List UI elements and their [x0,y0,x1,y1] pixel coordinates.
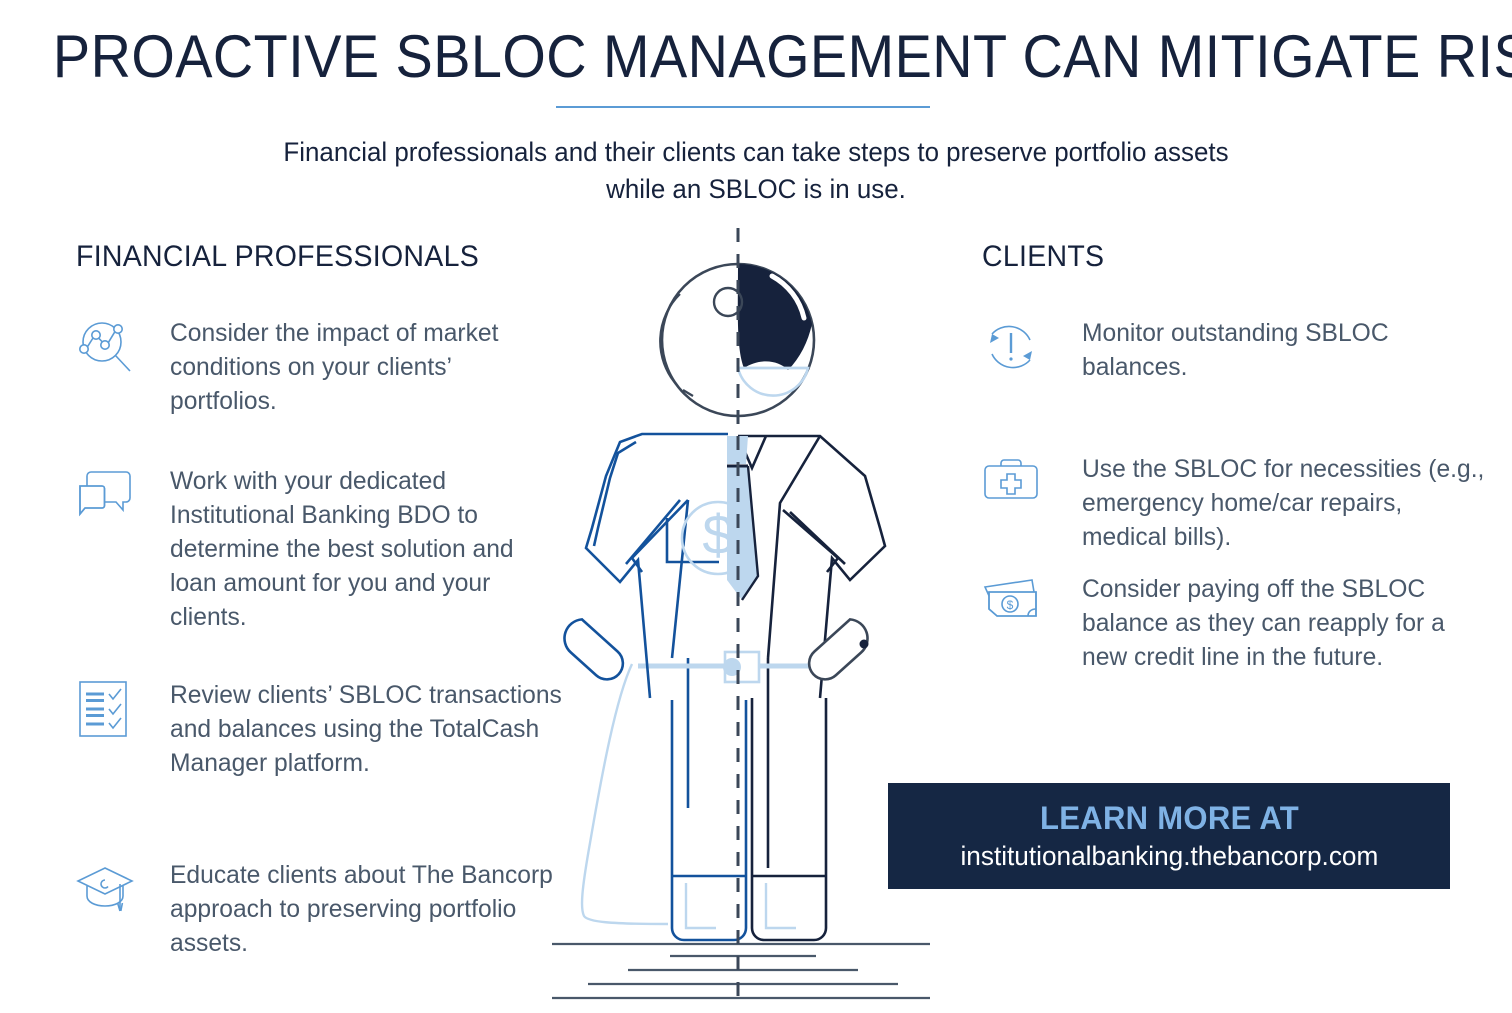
speech-bubbles-icon [74,464,136,526]
split-businessperson-illustration: $ [520,228,990,1008]
cta-banner[interactable]: LEARN MORE AT institutionalbanking.theba… [888,783,1450,889]
infographic-canvas: PROACTIVE SBLOC MANAGEMENT CAN MITIGATE … [0,0,1512,1008]
list-item-label: Use the SBLOC for necessities (e.g., eme… [1082,452,1494,554]
list-item-label: Educate clients about The Bancorp approa… [170,858,564,960]
page-title: PROACTIVE SBLOC MANAGEMENT CAN MITIGATE … [53,22,1459,91]
list-item-label: Work with your dedicated Institutional B… [170,464,564,634]
graduation-cap-icon [74,858,136,920]
page-subtitle: Financial professionals and their client… [276,134,1236,208]
list-item-label: Review clients’ SBLOC transactions and b… [170,678,564,780]
cta-url[interactable]: institutionalbanking.thebancorp.com [960,841,1378,872]
checklist-icon [74,678,136,740]
list-item-label: Monitor outstanding SBLOC balances. [1082,316,1474,384]
list-item-label: Consider paying off the SBLOC balance as… [1082,572,1474,674]
list-item: Consider the impact of market conditions… [74,316,574,418]
svg-text:$: $ [1007,598,1014,612]
list-item: Monitor outstanding SBLOC balances. [980,316,1480,384]
column-heading-clients: CLIENTS [982,240,1104,274]
list-item: Use the SBLOC for necessities (e.g., eme… [980,452,1500,554]
cta-headline: LEARN MORE AT [1040,800,1299,837]
list-item: Educate clients about The Bancorp approa… [74,858,574,960]
title-divider [556,106,930,108]
list-item: Work with your dedicated Institutional B… [74,464,574,634]
list-item: Review clients’ SBLOC transactions and b… [74,678,574,780]
list-item-label: Consider the impact of market conditions… [170,316,564,418]
list-item: $ Consider paying off the SBLOC balance … [980,572,1480,674]
column-heading-financial-professionals: FINANCIAL PROFESSIONALS [76,240,479,274]
market-analysis-magnifier-icon [74,316,136,378]
